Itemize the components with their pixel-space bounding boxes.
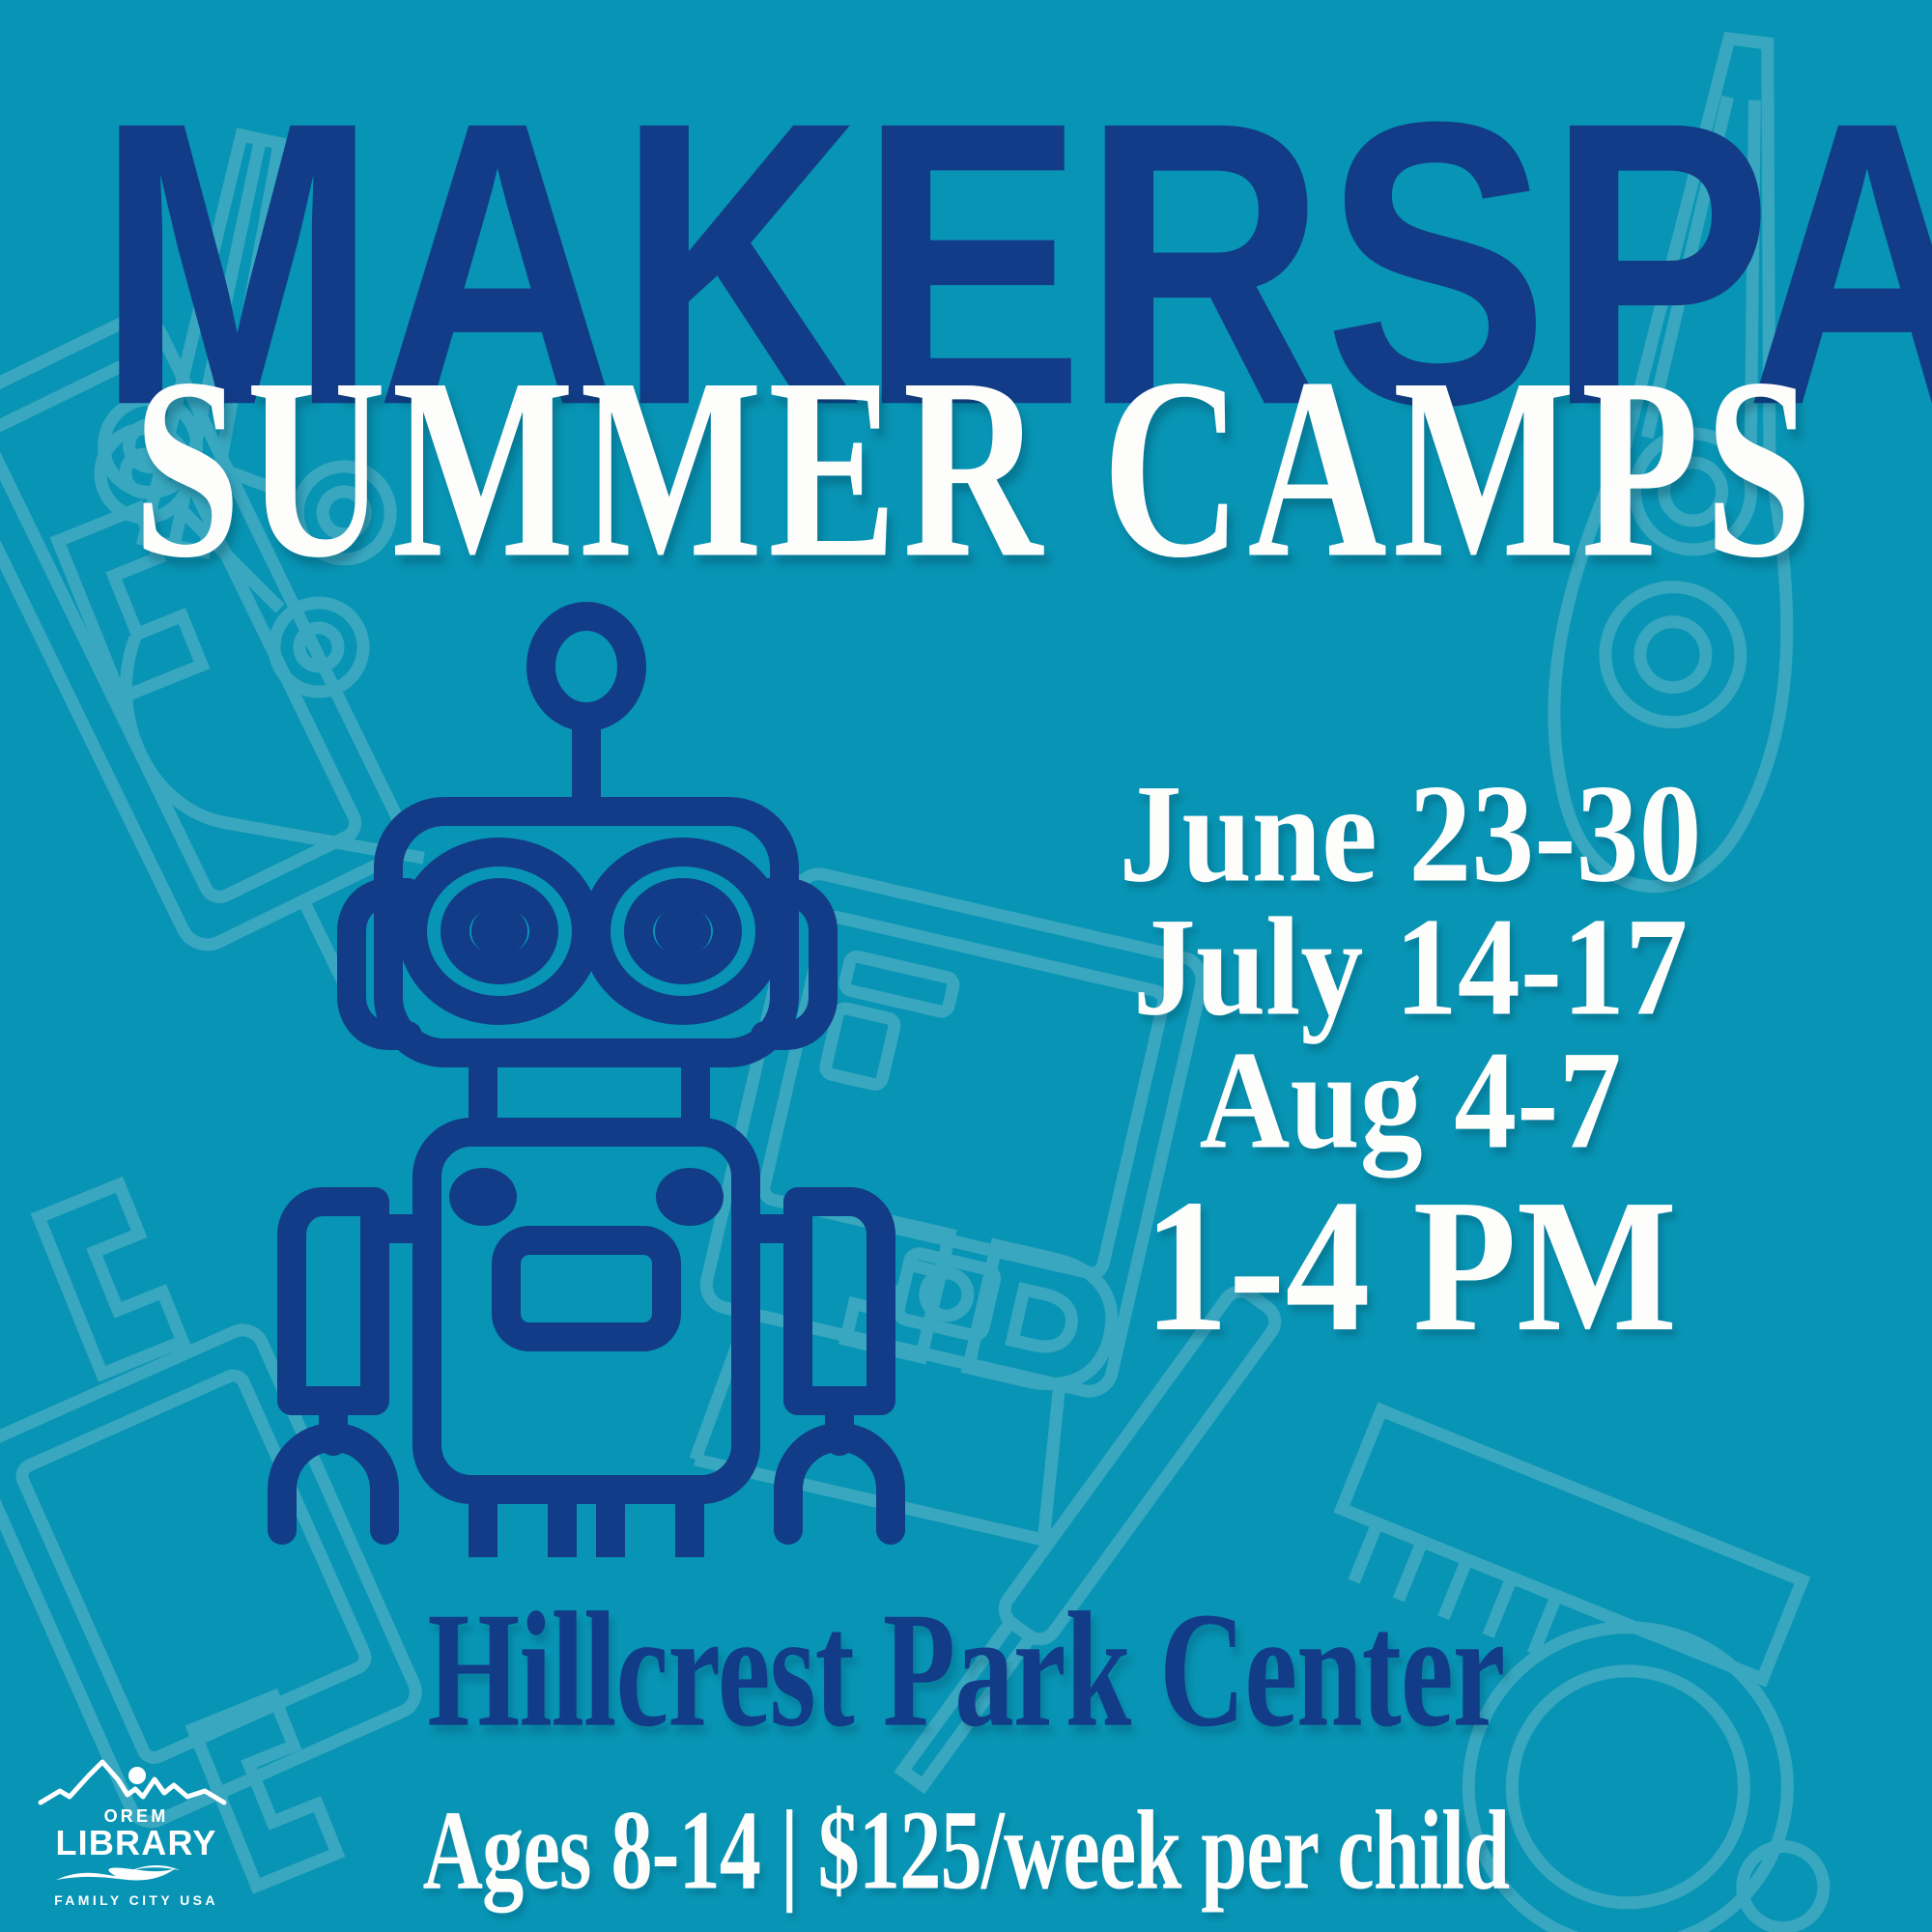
pricing-details: Ages 8-14 | $125/week per child — [97, 1789, 1835, 1912]
logo-line-library: LIBRARY — [55, 1823, 216, 1862]
session-date: June 23-30 — [985, 759, 1835, 909]
session-time: 1-4 PM — [985, 1175, 1835, 1358]
logo-line-tagline: FAMILY CITY USA — [54, 1892, 218, 1908]
robot-icon — [243, 591, 920, 1557]
schedule-block: June 23-30 July 14-17 Aug 4-7 1-4 PM — [985, 759, 1835, 1339]
orem-library-logo: OREM LIBRARY FAMILY CITY USA — [35, 1747, 238, 1922]
session-date: July 14-17 — [985, 893, 1835, 1042]
session-date: Aug 4-7 — [985, 1026, 1835, 1176]
water-squiggle-icon — [56, 1865, 180, 1881]
sun-icon — [128, 1767, 146, 1784]
page-subtitle: SUMMER CAMPS — [68, 340, 1884, 599]
poster-canvas: MAKERSPACE SUMMER CAMPS — [0, 0, 1932, 1932]
venue-name: Hillcrest Park Center — [116, 1582, 1816, 1759]
